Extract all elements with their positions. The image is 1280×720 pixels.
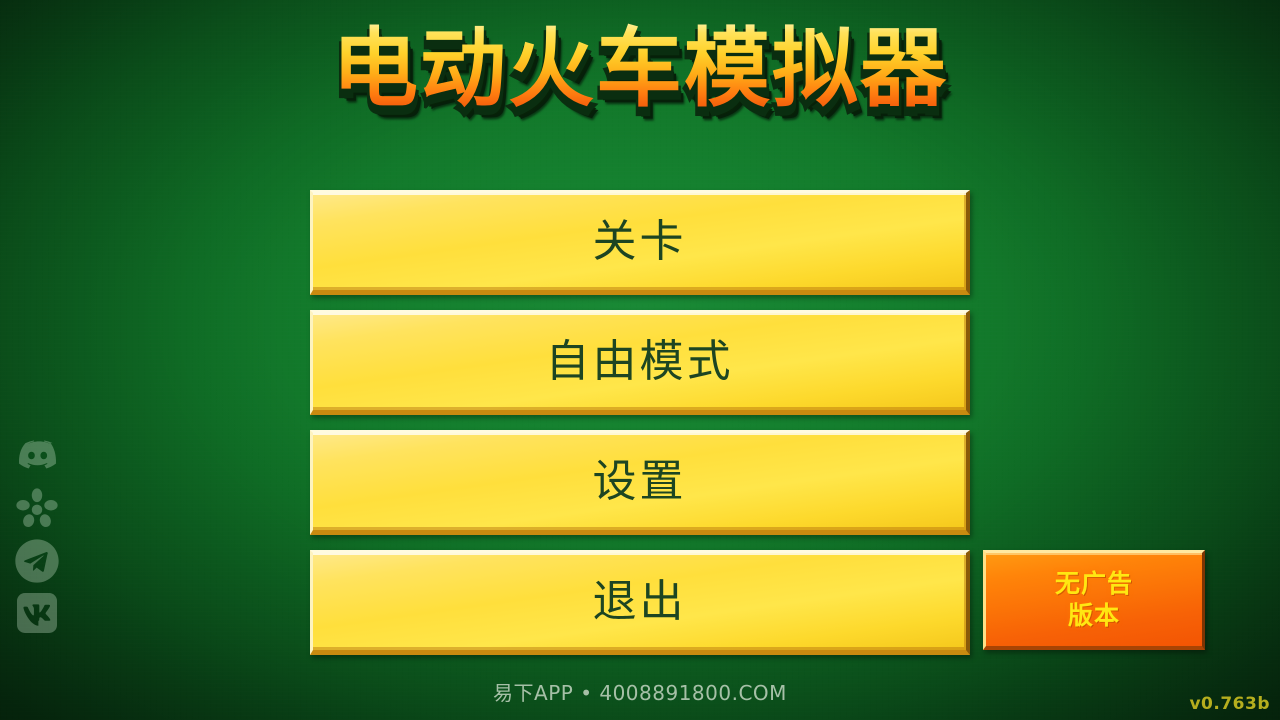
version-label: v0.763b (1189, 694, 1270, 714)
watermark-text: 易下APP • 4008891800.COM (0, 677, 1280, 706)
menu-button-settings[interactable]: 设置 (310, 430, 970, 535)
menu-button-levels[interactable]: 关卡 (310, 190, 970, 295)
game-main-menu-screen: 电动火车模拟器 电动火车模拟器 关卡 自由模式 设置 退出 无广告 版本 (0, 0, 1280, 720)
discord-icon[interactable] (12, 432, 62, 482)
telegram-icon[interactable] (12, 536, 62, 586)
ad-free-version-button[interactable]: 无广告 版本 (983, 550, 1205, 650)
game-title-text: 电动火车模拟器 (332, 19, 948, 119)
vk-icon[interactable] (12, 588, 62, 638)
ad-free-badge-line2: 版本 (1068, 600, 1120, 631)
menu-button-exit[interactable]: 退出 (310, 550, 970, 655)
main-menu: 关卡 自由模式 设置 退出 (310, 190, 970, 670)
ad-free-badge-line1: 无广告 (1055, 568, 1133, 599)
social-links (12, 432, 64, 640)
menu-button-free-mode[interactable]: 自由模式 (310, 310, 970, 415)
icq-icon[interactable] (12, 484, 62, 534)
game-title: 电动火车模拟器 电动火车模拟器 (0, 26, 1280, 112)
